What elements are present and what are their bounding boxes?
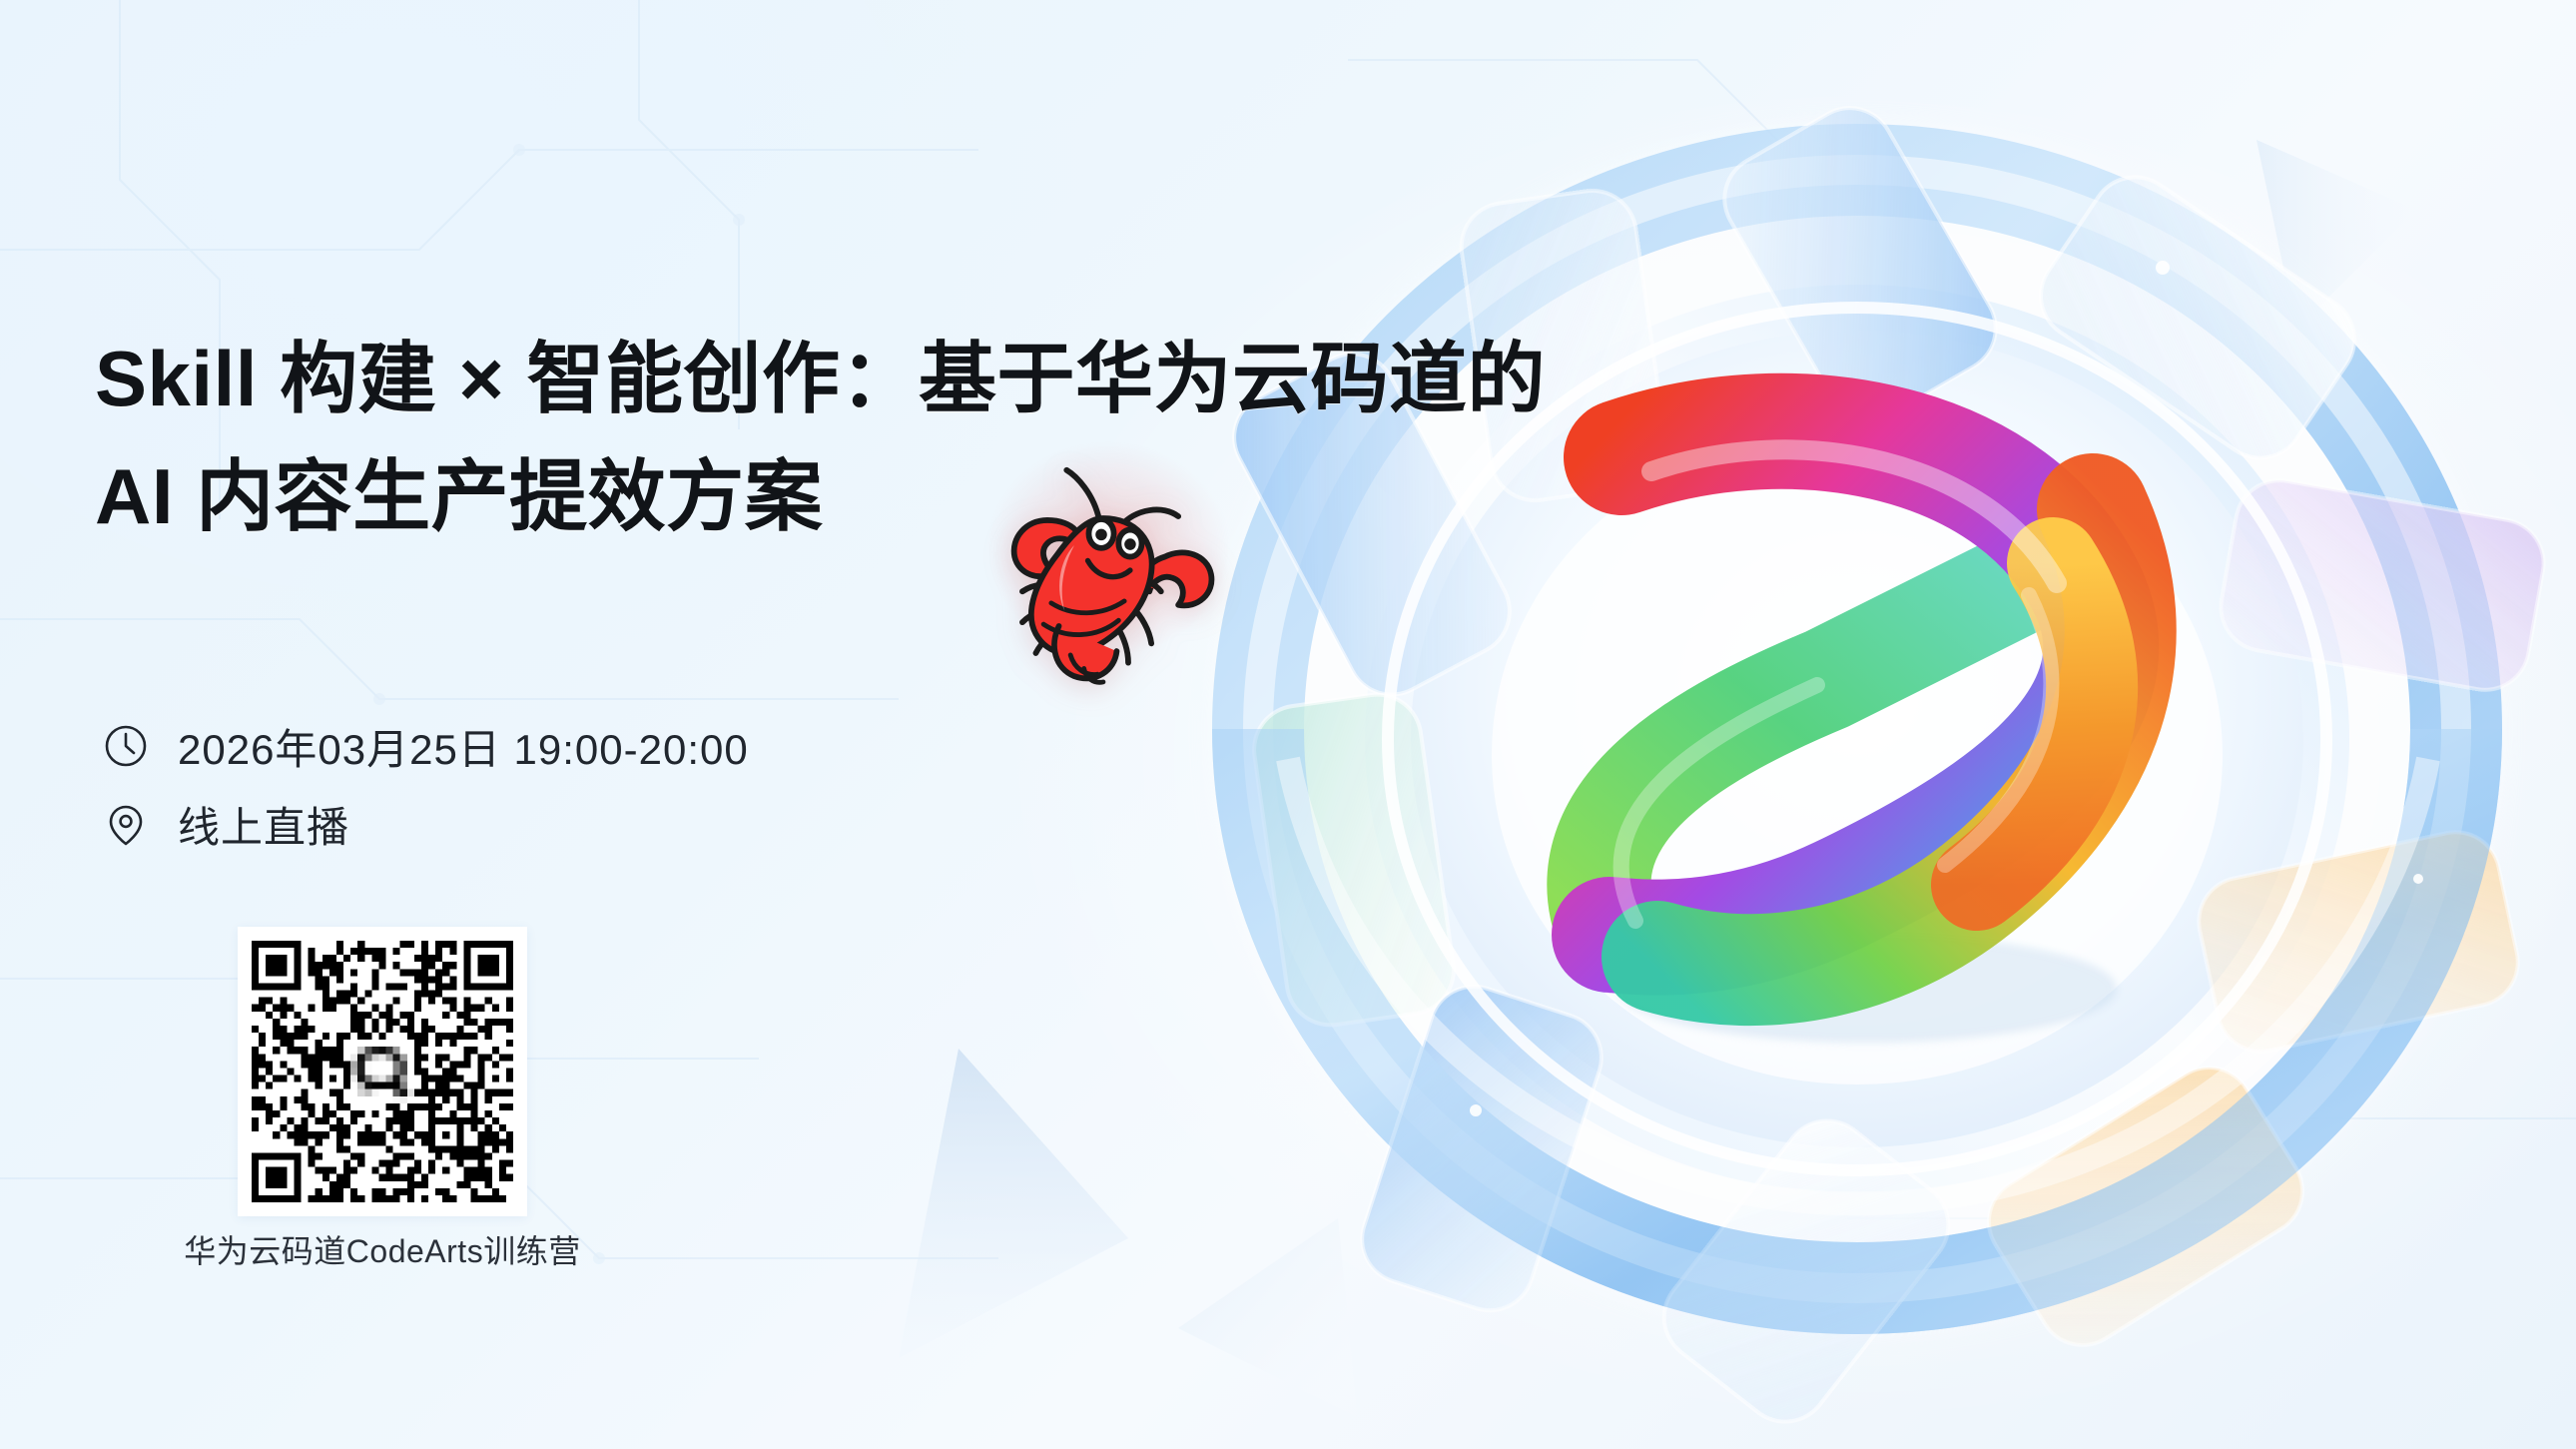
event-datetime-text: 2026年03月25日 19:00-20:00 bbox=[178, 716, 749, 777]
event-meta: 2026年03月25日 19:00-20:00 线上直播 bbox=[100, 707, 749, 863]
event-location-text: 线上直播 bbox=[178, 794, 349, 855]
qr-code-image bbox=[252, 941, 513, 1202]
banner-content: Skill 构建 × 智能创作：基于华为云码道的 AI 内容生产提效方案 202… bbox=[0, 0, 1298, 1449]
qr-code-block: 华为云码道CodeArts训练营 bbox=[238, 927, 527, 1216]
event-location-row: 线上直播 bbox=[100, 785, 749, 863]
event-datetime-row: 2026年03月25日 19:00-20:00 bbox=[100, 707, 749, 785]
qr-code[interactable] bbox=[238, 927, 527, 1216]
clock-icon bbox=[100, 720, 152, 772]
webinar-banner: Skill 构建 × 智能创作：基于华为云码道的 AI 内容生产提效方案 202… bbox=[0, 0, 2576, 1449]
lobster-mascot bbox=[966, 437, 1236, 707]
qr-caption: 华为云码道CodeArts训练营 bbox=[148, 1226, 617, 1272]
location-pin-icon bbox=[100, 798, 152, 850]
codearts-3d-ribbon-artwork bbox=[1158, 0, 2576, 1449]
title-line-1: Skill 构建 × 智能创作：基于华为云码道的 bbox=[95, 320, 1233, 437]
